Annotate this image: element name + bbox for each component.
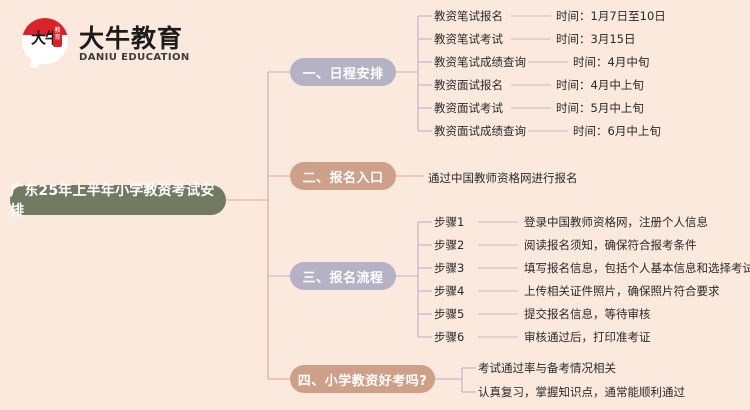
logo-name-cn: 大牛教育 — [79, 25, 190, 52]
leaf-label: 步骤6 — [434, 331, 464, 344]
leaf-value: 登录中国教师资格网，注册个人信息 — [524, 216, 708, 229]
leaf-value: 考试通过率与备考情况相关 — [478, 362, 616, 375]
leaf-value: 时间：4月中旬 — [573, 56, 649, 69]
leaf-value: 提交报名信息，等待审核 — [524, 308, 651, 321]
logo-wordmark: 大牛教育 DANIU EDUCATION — [79, 25, 190, 64]
branch-node-difficulty[interactable]: 四、小学教资好考吗? — [290, 365, 435, 393]
leaf-value: 时间：4月中上旬 — [556, 79, 644, 92]
leaf-value: 通过中国教师资格网进行报名 — [428, 170, 578, 186]
logo-seal-icon: 教育 — [53, 26, 62, 47]
leaf-value: 阅读报名须知，确保符合报考条件 — [524, 239, 697, 252]
leaf-label: 教资面试考试 — [434, 102, 503, 115]
speech-bubble-icon: 大牛 教育 — [22, 18, 68, 64]
leaf-value: 上传相关证件照片，确保照片符合要求 — [524, 285, 720, 298]
leaf-value: 时间：1月7日至10日 — [556, 10, 666, 23]
leaf-label: 教资笔试报名 — [434, 10, 503, 23]
leaf-label: 步骤1 — [434, 216, 464, 229]
leaf-value: 填写报名信息，包括个人基本信息和选择考试科目 — [524, 262, 750, 275]
logo-name-en: DANIU EDUCATION — [79, 52, 190, 64]
leaf-value: 认真复习，掌握知识点，通常能顺利通过 — [478, 386, 685, 399]
leaf-value: 审核通过后，打印准考证 — [524, 331, 651, 344]
leaf-value: 时间：6月中上旬 — [573, 125, 661, 138]
leaf-label: 步骤3 — [434, 262, 464, 275]
mindmap-canvas: 大牛 教育 大牛教育 DANIU EDUCATION 广东25年上半年小学教资考… — [0, 0, 750, 410]
branch-node-registration-entrance[interactable]: 二、报名入口 — [290, 162, 396, 190]
leaf-label: 步骤2 — [434, 239, 464, 252]
leaf-label: 教资面试报名 — [434, 79, 503, 92]
leaf-label: 教资面试成绩查询 — [434, 125, 526, 138]
leaf-value: 时间：5月中上旬 — [556, 102, 644, 115]
root-node[interactable]: 广东25年上半年小学教资考试安排 — [10, 185, 226, 215]
leaf-label: 步骤4 — [434, 285, 464, 298]
branch-node-schedule[interactable]: 一、日程安排 — [290, 58, 396, 86]
leaf-label: 教资笔试成绩查询 — [434, 56, 526, 69]
leaf-label: 步骤5 — [434, 308, 464, 321]
logo-mark-icon: 大牛 教育 — [22, 18, 70, 70]
leaf-value: 时间：3月15日 — [556, 33, 635, 46]
leaf-label: 教资笔试考试 — [434, 33, 503, 46]
branch-node-registration-process[interactable]: 三、报名流程 — [290, 262, 396, 290]
brand-logo: 大牛 教育 大牛教育 DANIU EDUCATION — [22, 18, 190, 70]
